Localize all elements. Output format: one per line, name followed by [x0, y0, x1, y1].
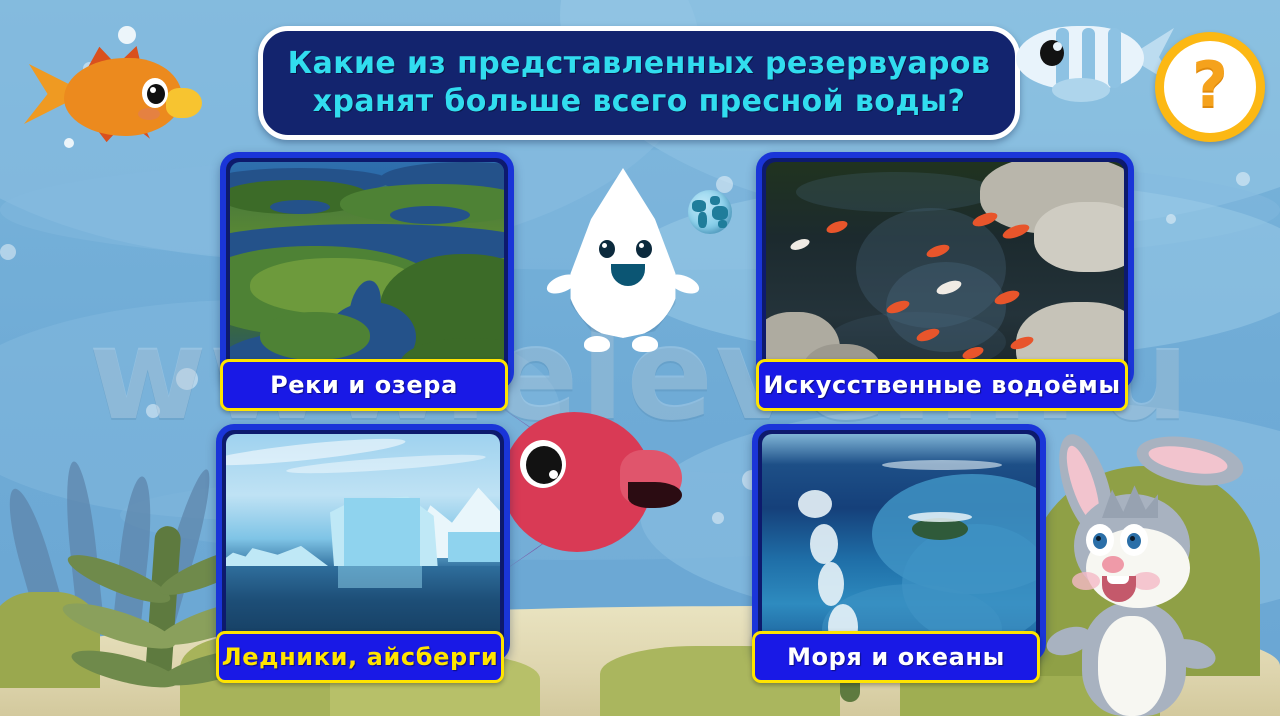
answer-label-seas-oceans[interactable]: Моря и океаны [752, 631, 1040, 683]
mascot-foot-left [584, 336, 610, 352]
bubble [0, 244, 16, 260]
answer-label-text: Ледники, айсберги [222, 643, 499, 671]
answer-card-rivers-lakes[interactable]: Реки и озера [220, 152, 514, 390]
question-mark-icon: ? [1192, 54, 1228, 116]
water-drop-mascot [548, 168, 698, 353]
answer-label-rivers-lakes[interactable]: Реки и озера [220, 359, 508, 411]
question-text: Какие из представленных резервуаров хран… [270, 45, 1009, 122]
bubble [1166, 214, 1176, 224]
bubble [146, 404, 160, 418]
bubble [1236, 172, 1250, 186]
goldfish-icon [18, 36, 208, 156]
striped-fish-icon [990, 12, 1180, 112]
bubble [176, 368, 198, 390]
answer-card-seas-oceans[interactable]: Моря и океаны [752, 424, 1046, 662]
answer-label-text: Моря и океаны [787, 643, 1005, 671]
answer-label-artificial-reservoirs[interactable]: Искусственные водоёмы [756, 359, 1128, 411]
answer-label-text: Реки и озера [270, 371, 458, 399]
mascot-body [566, 168, 680, 338]
help-button[interactable]: ? [1155, 32, 1265, 142]
answer-card-artificial-reservoirs[interactable]: Искусственные водоёмы [756, 152, 1134, 390]
quiz-screen: www.eleven.ru Какие из представленных ре… [0, 0, 1280, 716]
question-banner: Какие из представленных резервуаров хран… [258, 26, 1020, 140]
answer-label-glaciers-icebergs[interactable]: Ледники, айсберги [216, 631, 504, 683]
answer-label-text: Искусственные водоёмы [763, 371, 1120, 399]
globe-icon [688, 190, 732, 234]
red-fish-icon [492, 398, 702, 578]
answer-image-artificial-reservoirs [766, 162, 1124, 380]
answer-card-glaciers-icebergs[interactable]: Ледники, айсберги [216, 424, 510, 662]
answer-image-seas-oceans [762, 434, 1036, 652]
bubble [716, 176, 733, 193]
answer-image-rivers-lakes [230, 162, 504, 380]
answer-image-glaciers-icebergs [226, 434, 500, 652]
mascot-eye-right [636, 240, 652, 258]
question-line-1: Какие из представленных резервуаров [288, 45, 991, 83]
mascot-foot-right [632, 336, 658, 352]
mascot-eye-left [599, 240, 615, 258]
question-line-2: хранят больше всего пресной воды? [288, 83, 991, 121]
bubble [712, 512, 724, 524]
rabbit-icon [1040, 432, 1255, 716]
